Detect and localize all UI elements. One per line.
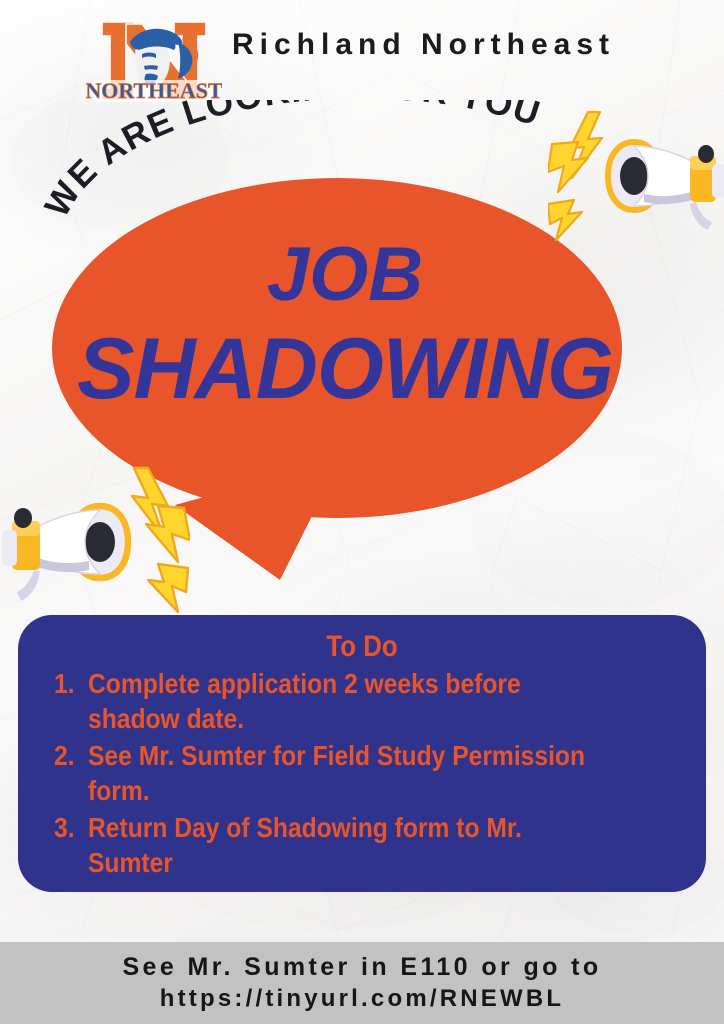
todo-item: 3. Return Day of Shadowing form to Mr. S… <box>54 810 680 880</box>
todo-item-number: 3. <box>54 810 84 845</box>
footer-contact-line: See Mr. Sumter in E110 or go to <box>122 951 601 983</box>
todo-item: 1. Complete application 2 weeks before s… <box>54 666 680 736</box>
todo-heading: To Do <box>73 630 651 664</box>
logo-wordmark: NORTHEAST <box>86 78 222 103</box>
school-logo: NORTHEAST <box>86 14 222 114</box>
todo-list: 1. Complete application 2 weeks before s… <box>26 666 698 880</box>
bubble-title-line1: JOB <box>60 228 630 322</box>
megaphone-icon-top-right <box>548 100 724 242</box>
megaphone-icon-bottom-left <box>0 462 190 620</box>
todo-card: To Do 1. Complete application 2 weeks be… <box>18 615 706 892</box>
svg-text:NORTHEAST: NORTHEAST <box>86 78 222 103</box>
todo-item-text: Complete application 2 weeks before shad… <box>88 666 609 736</box>
poster-canvas: NORTHEAST Richland Northeast WE ARE LOOK… <box>0 0 724 1024</box>
megaphone-body-top <box>608 142 724 230</box>
footer-url[interactable]: https://tinyurl.com/RNEWBL <box>160 983 565 1015</box>
todo-item-number: 1. <box>54 666 84 701</box>
lightning-bolts-top <box>548 112 602 240</box>
bubble-title-line2: SHADOWING <box>60 322 630 416</box>
footer-bar: See Mr. Sumter in E110 or go to https://… <box>0 942 724 1024</box>
todo-item-text: Return Day of Shadowing form to Mr. Sumt… <box>88 810 609 880</box>
bubble-title: JOB SHADOWING <box>60 228 630 416</box>
page-title: Richland Northeast <box>232 28 672 62</box>
todo-item-number: 2. <box>54 738 84 773</box>
lightning-bolts-bottom <box>132 468 190 612</box>
todo-item: 2. See Mr. Sumter for Field Study Permis… <box>54 738 680 808</box>
todo-item-text: See Mr. Sumter for Field Study Permissio… <box>88 738 609 808</box>
